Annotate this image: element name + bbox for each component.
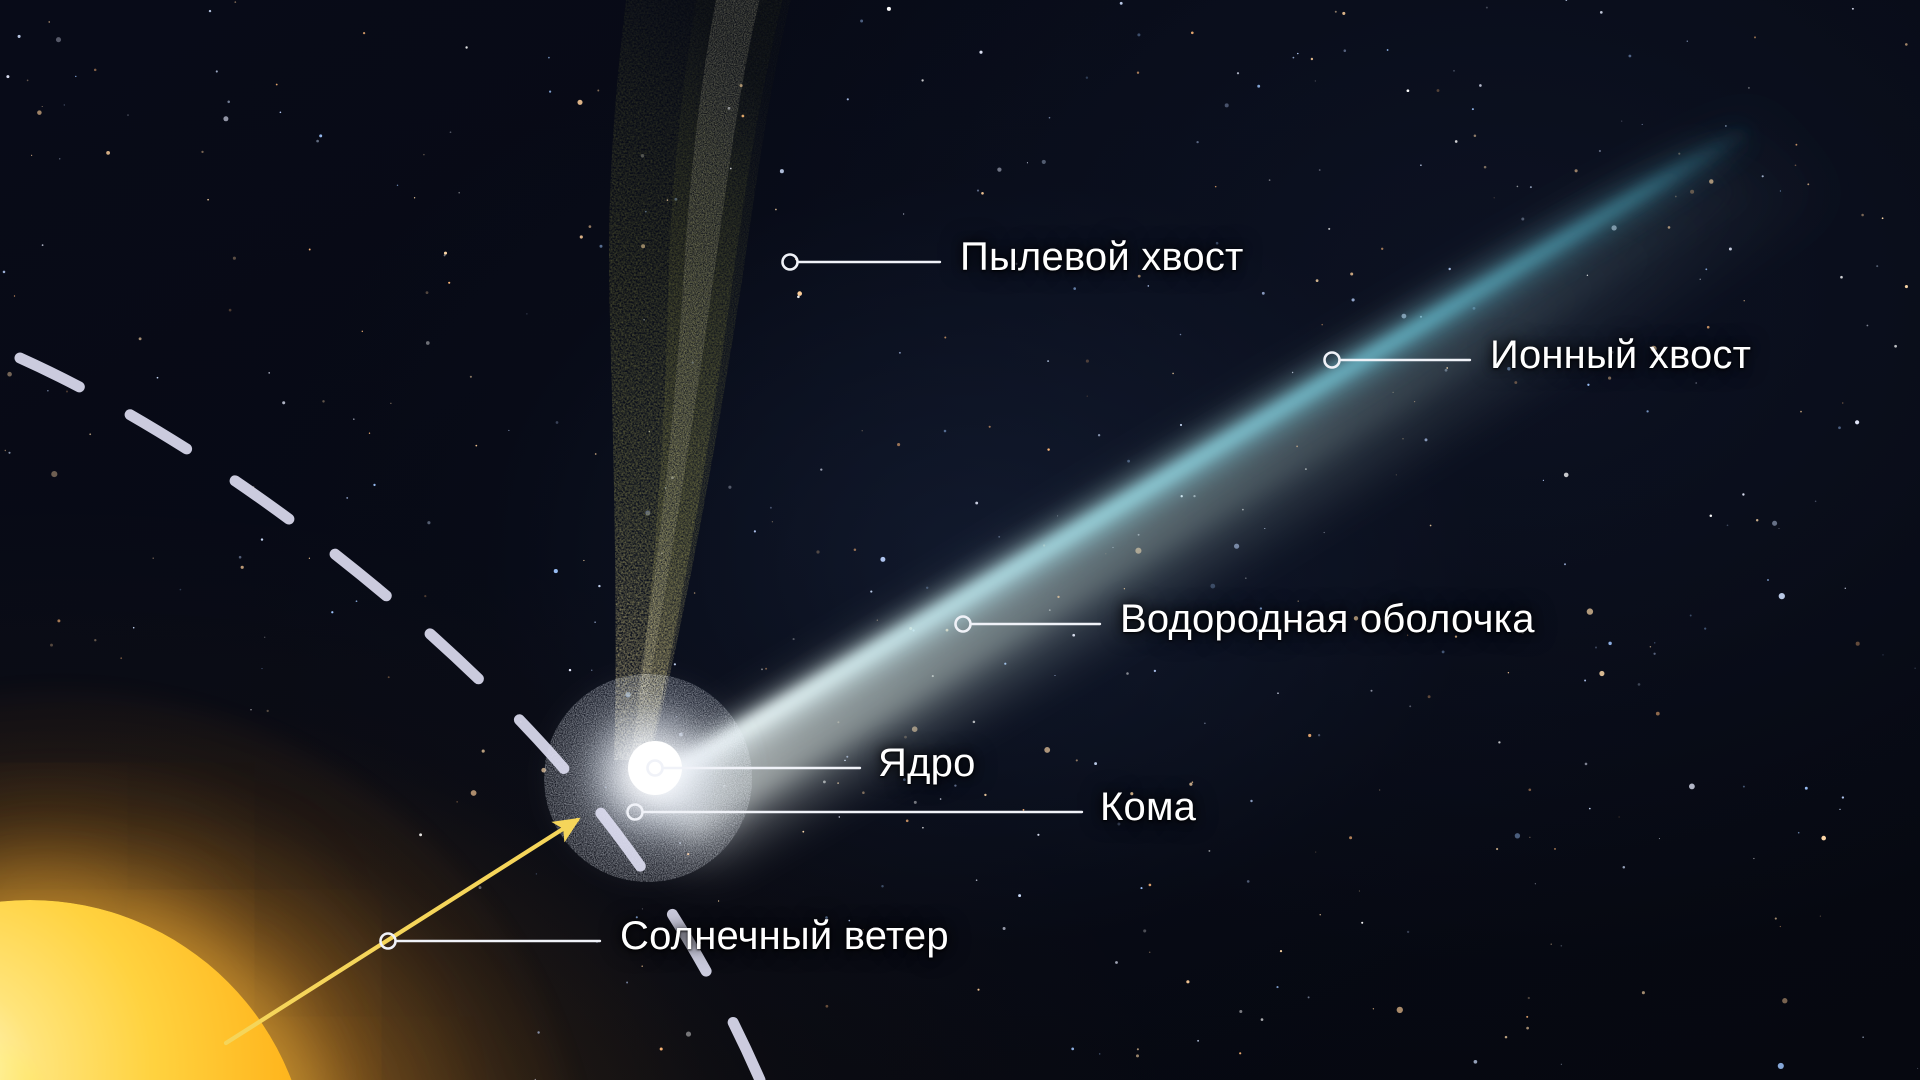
comet-anatomy-diagram: Пылевой хвостИонный хвостВодородная обол…: [0, 0, 1920, 1080]
label-solar-wind: Солнечный ветер: [620, 914, 949, 959]
label-text-layer: Пылевой хвостИонный хвостВодородная обол…: [0, 0, 1920, 1080]
label-hydrogen-envelope: Водородная оболочка: [1120, 597, 1535, 642]
label-ion-tail: Ионный хвост: [1490, 333, 1751, 378]
label-coma: Кома: [1100, 785, 1196, 830]
label-nucleus: Ядро: [878, 741, 976, 786]
label-dust-tail: Пылевой хвост: [960, 235, 1244, 280]
